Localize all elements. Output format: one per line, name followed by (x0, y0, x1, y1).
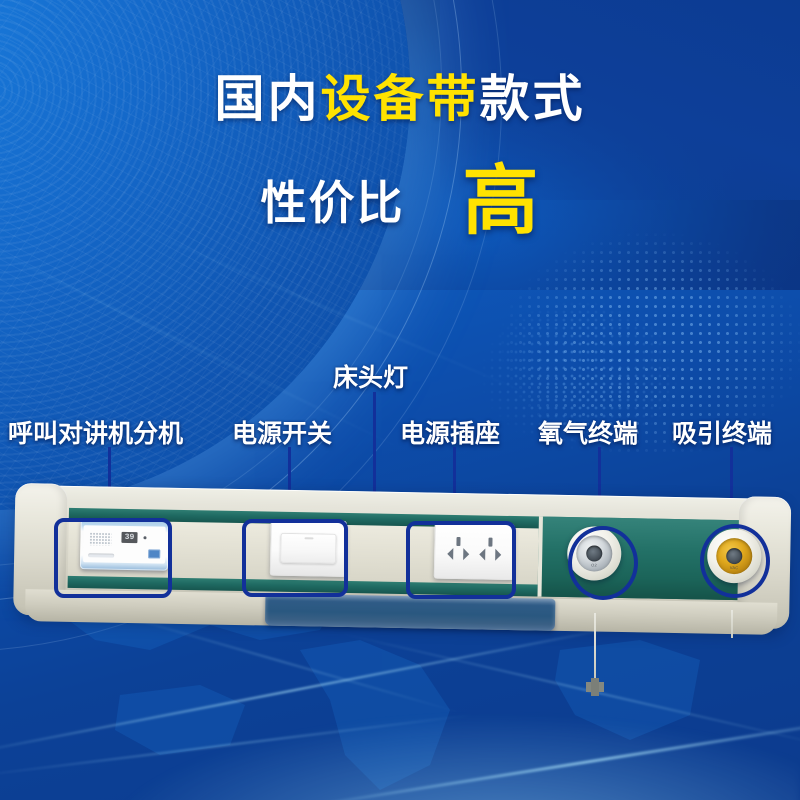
socket-pin-icon (463, 548, 469, 560)
suction-port-ring: VAC (716, 538, 753, 575)
socket-pin-icon (488, 538, 492, 547)
oxygen-port-ring: O2 (576, 535, 613, 572)
intercom-display: 39 (121, 532, 137, 543)
power-switch[interactable] (270, 520, 347, 577)
callout-label-suction: 吸引终端 (672, 414, 772, 450)
oxygen-port-marking: O2 (591, 562, 597, 567)
callout-label-power-socket: 电源插座 (400, 414, 500, 450)
intercom-led-icon (143, 536, 146, 539)
socket-pin-icon (447, 548, 453, 560)
headline-text-kuanshi: 款式 (480, 71, 586, 127)
intercom-faceplate: 39 (83, 525, 166, 563)
socket-outlet-left[interactable] (443, 537, 473, 564)
headline-block: 国内设备带款式 性价比高 (0, 74, 800, 124)
callout-label-oxygen: 氧气终端 (538, 414, 638, 450)
oxygen-cord-tool-icon (586, 678, 604, 696)
socket-pin-icon (479, 548, 485, 560)
headline-line-1: 国内设备带款式 (0, 74, 800, 124)
bottom-glow (0, 660, 800, 800)
headline-text-xingjiabi: 性价比 (261, 177, 405, 229)
nurse-call-intercom[interactable]: 39 (80, 519, 169, 571)
oxygen-port-core-icon (586, 545, 602, 561)
switch-tick-icon (304, 537, 313, 539)
bed-lamp-diffuser[interactable] (265, 594, 556, 631)
oxygen-pull-cord (594, 613, 596, 681)
speaker-grille-icon (89, 532, 111, 545)
callout-label-intercom: 呼叫对讲机分机 (8, 414, 183, 450)
suction-pull-cord (731, 610, 733, 638)
bedhead-unit-panel: 39 (17, 485, 788, 649)
headline-text-shebeidai: 设备带 (321, 71, 480, 127)
headline-text-guonei: 国内 (215, 71, 321, 127)
intercom-slot (88, 553, 114, 557)
suction-port-core-icon (726, 548, 742, 564)
socket-pin-icon (495, 549, 501, 561)
callout-label-bed-lamp: 床头灯 (333, 358, 408, 394)
suction-port-marking: VAC (730, 565, 739, 570)
socket-outlet-right[interactable] (475, 537, 505, 564)
socket-pin-icon (456, 537, 460, 546)
headline-line-2: 性价比高 (0, 164, 800, 240)
power-socket[interactable] (434, 523, 515, 580)
intercom-call-button[interactable] (148, 549, 160, 558)
switch-rocker[interactable] (280, 533, 337, 564)
callout-label-power-switch: 电源开关 (232, 414, 332, 450)
promo-image: 国内设备带款式 性价比高 呼叫对讲机分机 电源开关 床头灯 电源插座 氧气终端 … (0, 0, 800, 800)
headline-text-gao: 高 (463, 159, 540, 244)
